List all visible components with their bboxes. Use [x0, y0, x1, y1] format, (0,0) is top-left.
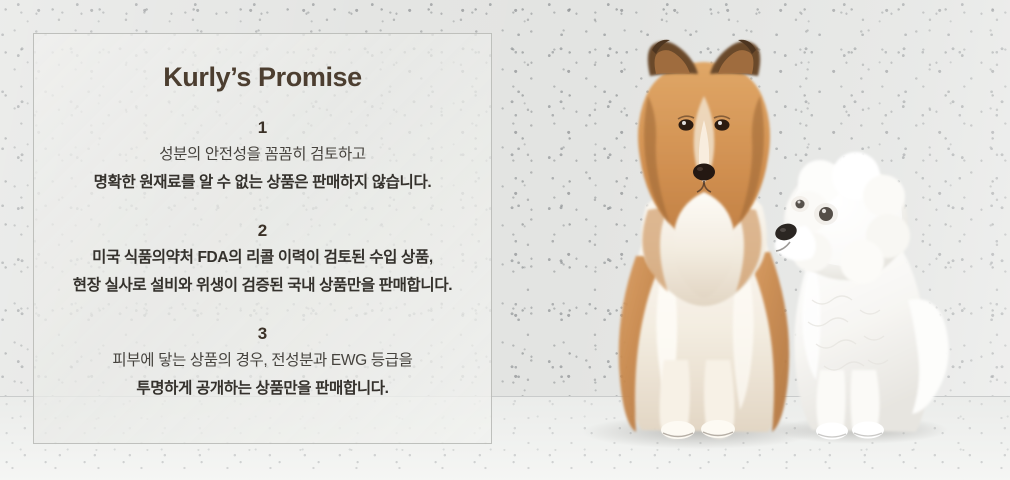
promise-item-1-line-2: 명확한 원재료를 알 수 없는 상품은 판매하지 않습니다.	[34, 169, 491, 197]
promise-item-1-line-1: 성분의 안전성을 꼼꼼히 검토하고	[34, 141, 491, 169]
promise-item-2-number: 2	[34, 218, 491, 244]
promise-item-2-line-2: 현장 실사로 설비와 위생이 검증된 국내 상품만을 판매합니다.	[34, 272, 491, 300]
promise-card: Kurly’s Promise 1 성분의 안전성을 꼼꼼히 검토하고 명확한 …	[33, 33, 492, 444]
promise-item-2: 2 미국 식품의약처 FDA의 리콜 이력이 검토된 수입 상품, 현장 실사로…	[34, 218, 491, 300]
promise-item-3-line-1: 피부에 닿는 상품의 경우, 전성분과 EWG 등급을	[34, 347, 491, 375]
promise-item-1: 1 성분의 안전성을 꼼꼼히 검토하고 명확한 원재료를 알 수 없는 상품은 …	[34, 115, 491, 197]
promise-item-1-number: 1	[34, 115, 491, 141]
promise-item-2-line-1: 미국 식품의약처 FDA의 리콜 이력이 검토된 수입 상품,	[34, 244, 491, 272]
bichon-frise	[773, 152, 949, 440]
shetland-sheepdog	[619, 40, 789, 439]
promise-item-3-line-2: 투명하게 공개하는 상품만을 판매합니다.	[34, 375, 491, 403]
promise-item-3-number: 3	[34, 321, 491, 347]
kurly-promise-banner: Kurly’s Promise 1 성분의 안전성을 꼼꼼히 검토하고 명확한 …	[0, 0, 1010, 480]
page-title: Kurly’s Promise	[34, 34, 491, 93]
promise-item-3: 3 피부에 닿는 상품의 경우, 전성분과 EWG 등급을 투명하게 공개하는 …	[34, 321, 491, 403]
